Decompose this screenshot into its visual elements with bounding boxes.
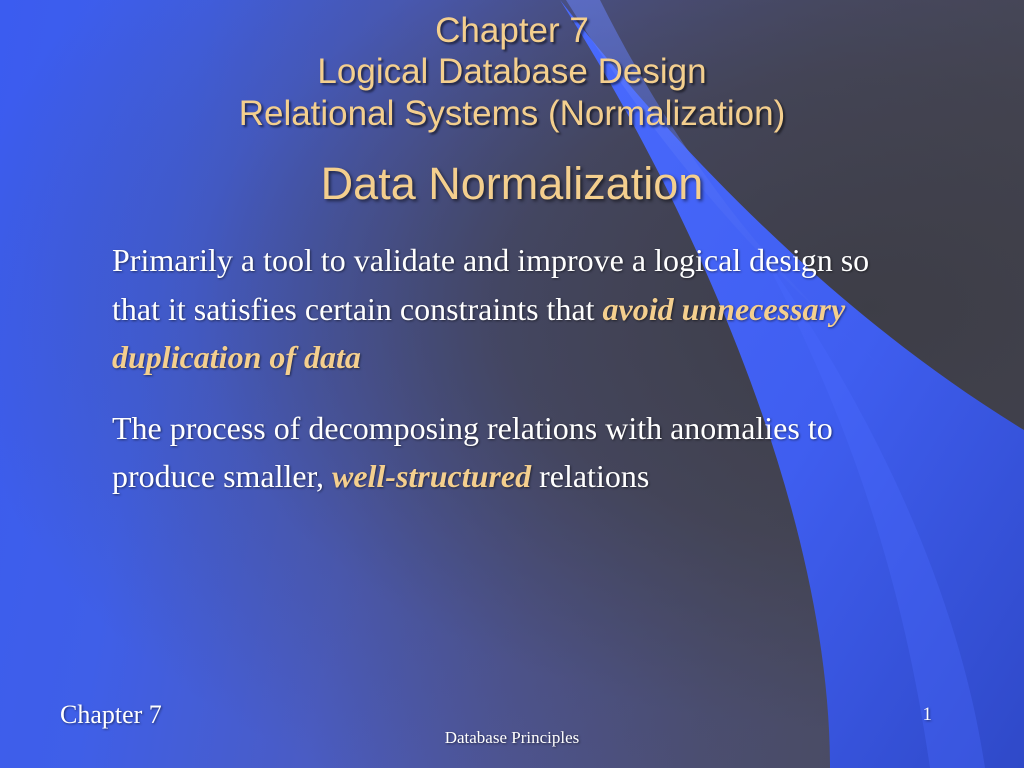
title-line-3: Relational Systems (Normalization) xyxy=(0,93,1024,134)
slide-content: Chapter 7 Logical Database Design Relati… xyxy=(0,0,1024,768)
title-line-1: Chapter 7 xyxy=(0,10,1024,51)
slide: Chapter 7 Logical Database Design Relati… xyxy=(0,0,1024,768)
body-paragraph-1: Primarily a tool to validate and improve… xyxy=(112,236,912,382)
page-number: 1 xyxy=(923,704,933,726)
paragraph-2-emphasis: well-structured xyxy=(332,458,531,494)
footer-course-label: Database Principles xyxy=(0,728,1024,748)
footer-chapter-label: Chapter 7 xyxy=(60,700,162,730)
body-paragraph-2: The process of decomposing relations wit… xyxy=(112,404,912,501)
slide-body: Primarily a tool to validate and improve… xyxy=(112,236,912,501)
slide-subtitle: Data Normalization xyxy=(0,158,1024,210)
paragraph-2-tail: relations xyxy=(531,458,649,494)
title-line-2: Logical Database Design xyxy=(0,51,1024,92)
slide-title: Chapter 7 Logical Database Design Relati… xyxy=(0,0,1024,134)
